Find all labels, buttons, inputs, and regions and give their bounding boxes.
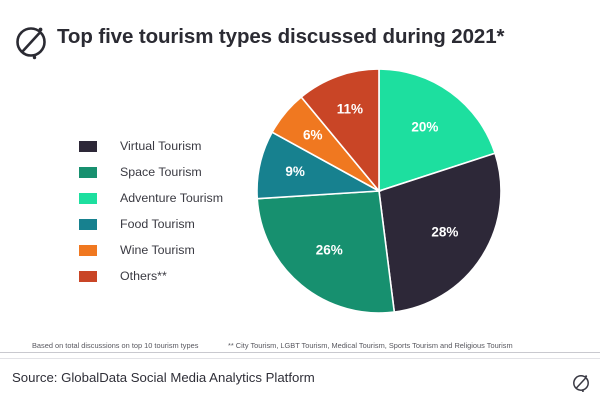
- legend-label: Wine Tourism: [120, 243, 195, 257]
- pie-slice-label: 6%: [303, 128, 323, 143]
- legend-item-space-tourism[interactable]: Space Tourism: [79, 159, 259, 185]
- page-title: Top five tourism types discussed during …: [57, 24, 577, 50]
- legend-label: Space Tourism: [120, 165, 202, 179]
- pie-slice-label: 11%: [337, 102, 363, 117]
- legend-item-food-tourism[interactable]: Food Tourism: [79, 211, 259, 237]
- legend-label: Adventure Tourism: [120, 191, 223, 205]
- legend-swatch-adventure-tourism: [79, 193, 97, 204]
- footnote-basis: Based on total discussions on top 10 tou…: [32, 341, 198, 350]
- source-label: Source: GlobalData Social Media Analytic…: [12, 370, 315, 385]
- legend-swatch-wine-tourism: [79, 245, 97, 256]
- legend-swatch-space-tourism: [79, 167, 97, 178]
- divider: [0, 352, 600, 353]
- globaldata-logo-icon-footer: [570, 370, 592, 394]
- pie-slice-label: 9%: [285, 164, 305, 179]
- pie-slice-label: 26%: [316, 243, 343, 258]
- divider: [0, 358, 600, 359]
- pie-slice-label: 28%: [431, 224, 458, 239]
- legend-item-adventure-tourism[interactable]: Adventure Tourism: [79, 185, 259, 211]
- globaldata-logo-icon: [10, 18, 52, 64]
- legend-label: Food Tourism: [120, 217, 195, 231]
- legend-label: Virtual Tourism: [120, 139, 202, 153]
- legend-item-wine-tourism[interactable]: Wine Tourism: [79, 237, 259, 263]
- footnote-others: ** City Tourism, LGBT Tourism, Medical T…: [228, 341, 513, 350]
- legend-swatch-virtual-tourism: [79, 141, 97, 152]
- legend-swatch-others: [79, 271, 97, 282]
- legend: Virtual Tourism Space Tourism Adventure …: [79, 133, 259, 289]
- pie-slice-group: [257, 69, 501, 313]
- legend-item-virtual-tourism[interactable]: Virtual Tourism: [79, 133, 259, 159]
- pie-slice-label: 20%: [411, 119, 438, 134]
- legend-item-others[interactable]: Others**: [79, 263, 259, 289]
- chart-slide: Top five tourism types discussed during …: [0, 0, 600, 400]
- pie-chart: 20%28%26%9%6%11%: [256, 68, 502, 314]
- legend-swatch-food-tourism: [79, 219, 97, 230]
- legend-label: Others**: [120, 269, 167, 283]
